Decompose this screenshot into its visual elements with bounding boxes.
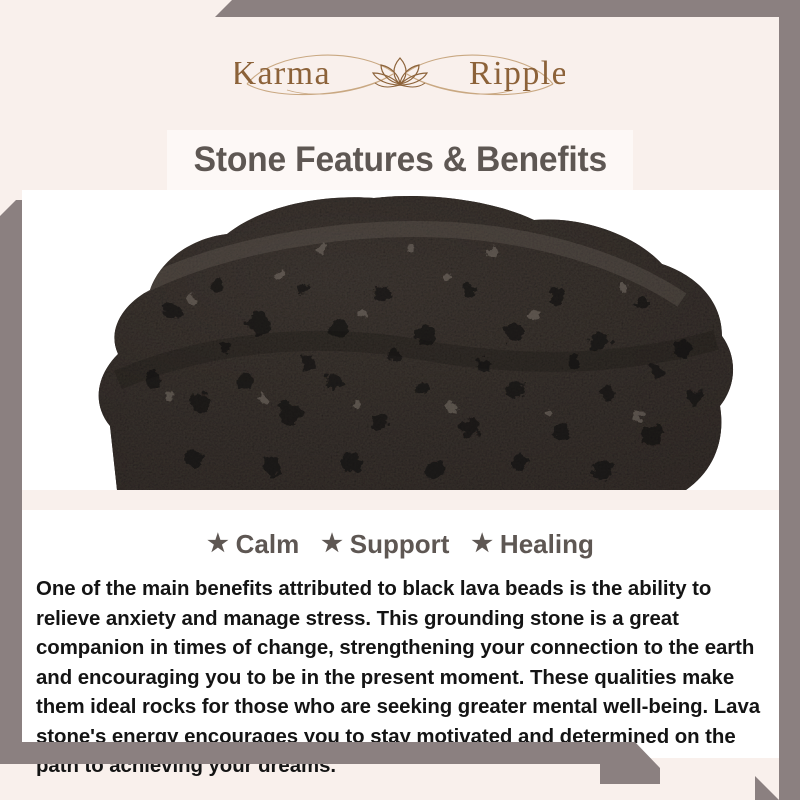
poster-header: Karma Ripple [0, 0, 800, 128]
lava-rock-illustration [22, 190, 779, 490]
benefit-item-healing: ★ Healing [471, 529, 593, 560]
body-panel: ★ Calm ★ Support ★ Healing One of the ma… [22, 510, 779, 758]
brand-word-left: Karma [235, 55, 331, 92]
brand-word-right: Ripple [469, 55, 565, 92]
benefit-item-calm: ★ Calm [207, 529, 299, 560]
photo-body-seam [22, 490, 779, 510]
lotus-icon [373, 58, 427, 87]
benefit-label-calm: Calm [236, 529, 300, 560]
star-icon: ★ [321, 532, 343, 556]
frame-accent-bottom [0, 742, 630, 764]
frame-accent-top [215, 0, 800, 17]
frame-accent-left [0, 200, 22, 764]
title-band: Stone Features & Benefits [167, 130, 633, 190]
benefits-row: ★ Calm ★ Support ★ Healing [22, 510, 779, 564]
star-icon: ★ [471, 532, 493, 556]
stone-benefits-poster: Karma Ripple [0, 0, 800, 800]
page-title: Stone Features & Benefits [193, 140, 606, 180]
lava-rock-photo: Lava Rock [22, 190, 779, 490]
benefit-item-support: ★ Support [321, 529, 449, 560]
star-icon: ★ [207, 532, 229, 556]
brand-logo: Karma Ripple [235, 44, 565, 102]
karma-ripple-logomark: Karma Ripple [235, 44, 565, 102]
frame-accent-corner-bottom-right [755, 776, 779, 800]
benefit-label-support: Support [350, 529, 450, 560]
frame-accent-right [779, 0, 800, 800]
benefit-label-healing: Healing [500, 529, 594, 560]
